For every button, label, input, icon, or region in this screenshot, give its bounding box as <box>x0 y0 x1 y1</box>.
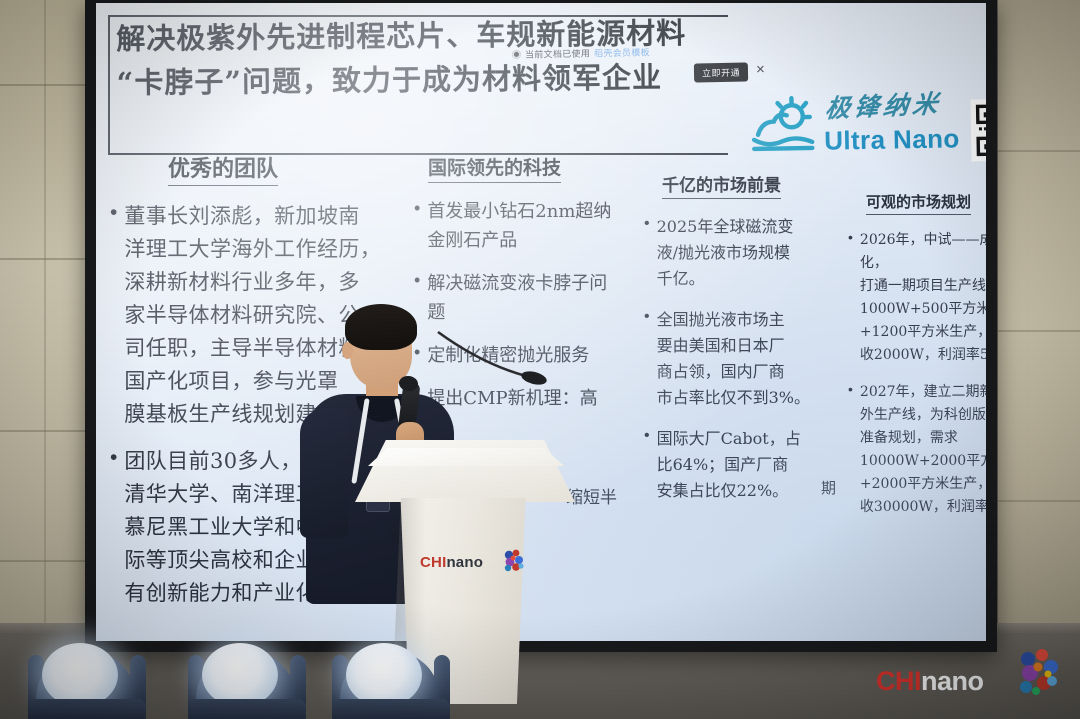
bullet-text: 2027年，建立二期新加坡海 外生产线，为科创版上市做 准备规划，需求 1000… <box>860 381 986 519</box>
brand-logo: 极锋纳米 Ultra Nano <box>747 87 978 175</box>
podium-lectern-surface <box>368 448 564 466</box>
molecule-sphere-icon <box>1008 645 1064 701</box>
bullet-dot-icon: • <box>414 197 420 220</box>
info-icon <box>512 50 521 59</box>
notice-link[interactable]: 稻壳会员模板 <box>594 45 650 59</box>
bullet-item: • 2025年全球磁流变 液/抛光液市场规模 千亿。 <box>644 214 844 292</box>
slide-title: 解决极紫外先进制程芯片、车规新能源材料 “卡脖子”问题，致力于成为材料领军企业 <box>116 10 747 105</box>
brand-calligraphy: 极锋纳米 <box>823 84 944 125</box>
slide-column-plan: 可观的市场规划 • 2026年，中试——成果转化， 打通一期项目生产线，需求 1… <box>848 191 986 519</box>
bullet-text: 全国抛光液市场主 要由美国和日本厂 商占领，国内厂商 市占率比仅不到3%。 <box>657 307 810 411</box>
stage-light-2 <box>188 629 306 719</box>
podium-brand-red: CHI <box>420 554 446 571</box>
watermark-logo: CHInano <box>870 645 1066 707</box>
bullet-dot-icon: • <box>644 214 650 234</box>
bullet-item: • 国际大厂Cabot，占 比64%；国产厂商 安集占比仅22%。 <box>644 426 844 504</box>
column-heading: 千亿的市场前景 <box>662 171 781 199</box>
molecule-sphere-icon <box>498 546 528 576</box>
venue-wall-right <box>998 0 1080 648</box>
occluded-text-fragment: 期 <box>821 477 836 498</box>
watermark-text: CHInano <box>876 666 984 697</box>
bullet-text: 2025年全球磁流变 液/抛光液市场规模 千亿。 <box>657 214 794 292</box>
presentation-slide: 解决极紫外先进制程芯片、车规新能源材料 “卡脖子”问题，致力于成为材料领军企业 … <box>96 3 986 641</box>
bullet-item: • 全国抛光液市场主 要由美国和日本厂 商占领，国内厂商 市占率比仅不到3%。 <box>644 307 844 411</box>
podium-logo: CHInano <box>420 548 520 576</box>
stage-light-3 <box>332 629 450 719</box>
conference-photo: 解决极紫外先进制程芯片、车规新能源材料 “卡脖子”问题，致力于成为材料领军企业 … <box>0 0 1080 719</box>
bullet-dot-icon: • <box>110 200 117 226</box>
bullet-dot-icon: • <box>414 269 420 292</box>
occluded-text-fragment: 缩短半 <box>566 483 617 508</box>
column-heading: 可观的市场规划 <box>866 191 971 215</box>
activate-button[interactable]: 立即开通 <box>694 62 748 82</box>
watermark-brand-white: nano <box>921 666 984 696</box>
bullet-text: 2026年，中试——成果转化， 打通一期项目生产线，需求 1000W+500平方… <box>860 229 986 367</box>
bullet-dot-icon: • <box>848 229 853 247</box>
brand-name-en: Ultra Nano <box>824 123 960 156</box>
stage-light-1 <box>28 629 146 719</box>
podium-brand-dark: nano <box>446 554 483 571</box>
column-heading: 国际领先的科技 <box>428 153 561 183</box>
notice-text: 当前文档已使用 <box>525 47 590 61</box>
sun-over-water-icon <box>747 94 820 159</box>
document-notice: 当前文档已使用 稻壳会员模板 <box>512 45 650 61</box>
column-heading: 优秀的团队 <box>168 151 278 186</box>
bullet-item: • 首发最小钻石2nm超纳 金刚石产品 <box>414 197 646 255</box>
bullet-item: • 2027年，建立二期新加坡海 外生产线，为科创版上市做 准备规划，需求 10… <box>848 381 986 519</box>
close-icon[interactable]: × <box>756 63 765 77</box>
bullet-item: • 2026年，中试——成果转化， 打通一期项目生产线，需求 1000W+500… <box>848 229 986 367</box>
bullet-dot-icon: • <box>644 307 650 327</box>
bullet-dot-icon: • <box>110 445 117 471</box>
slide-column-market: 千亿的市场前景 • 2025年全球磁流变 液/抛光液市场规模 千亿。 • 全国抛… <box>644 171 844 504</box>
bullet-text: 团队目前30多人， 清华大学、南洋理工 慕尼黑工业大学和中 际等顶尖高校和企业 … <box>124 445 317 610</box>
bullet-dot-icon: • <box>644 426 650 446</box>
qr-code-icon[interactable] <box>970 98 986 161</box>
bullet-text: 国际大厂Cabot，占 比64%；国产厂商 安集占比仅22%。 <box>657 426 801 504</box>
bullet-dot-icon: • <box>848 381 853 399</box>
watermark-brand-red: CHI <box>876 666 921 696</box>
podium-brand-text: CHInano <box>420 554 483 571</box>
bullet-text: 首发最小钻石2nm超纳 金刚石产品 <box>427 197 611 255</box>
venue-wall-left <box>0 0 96 640</box>
